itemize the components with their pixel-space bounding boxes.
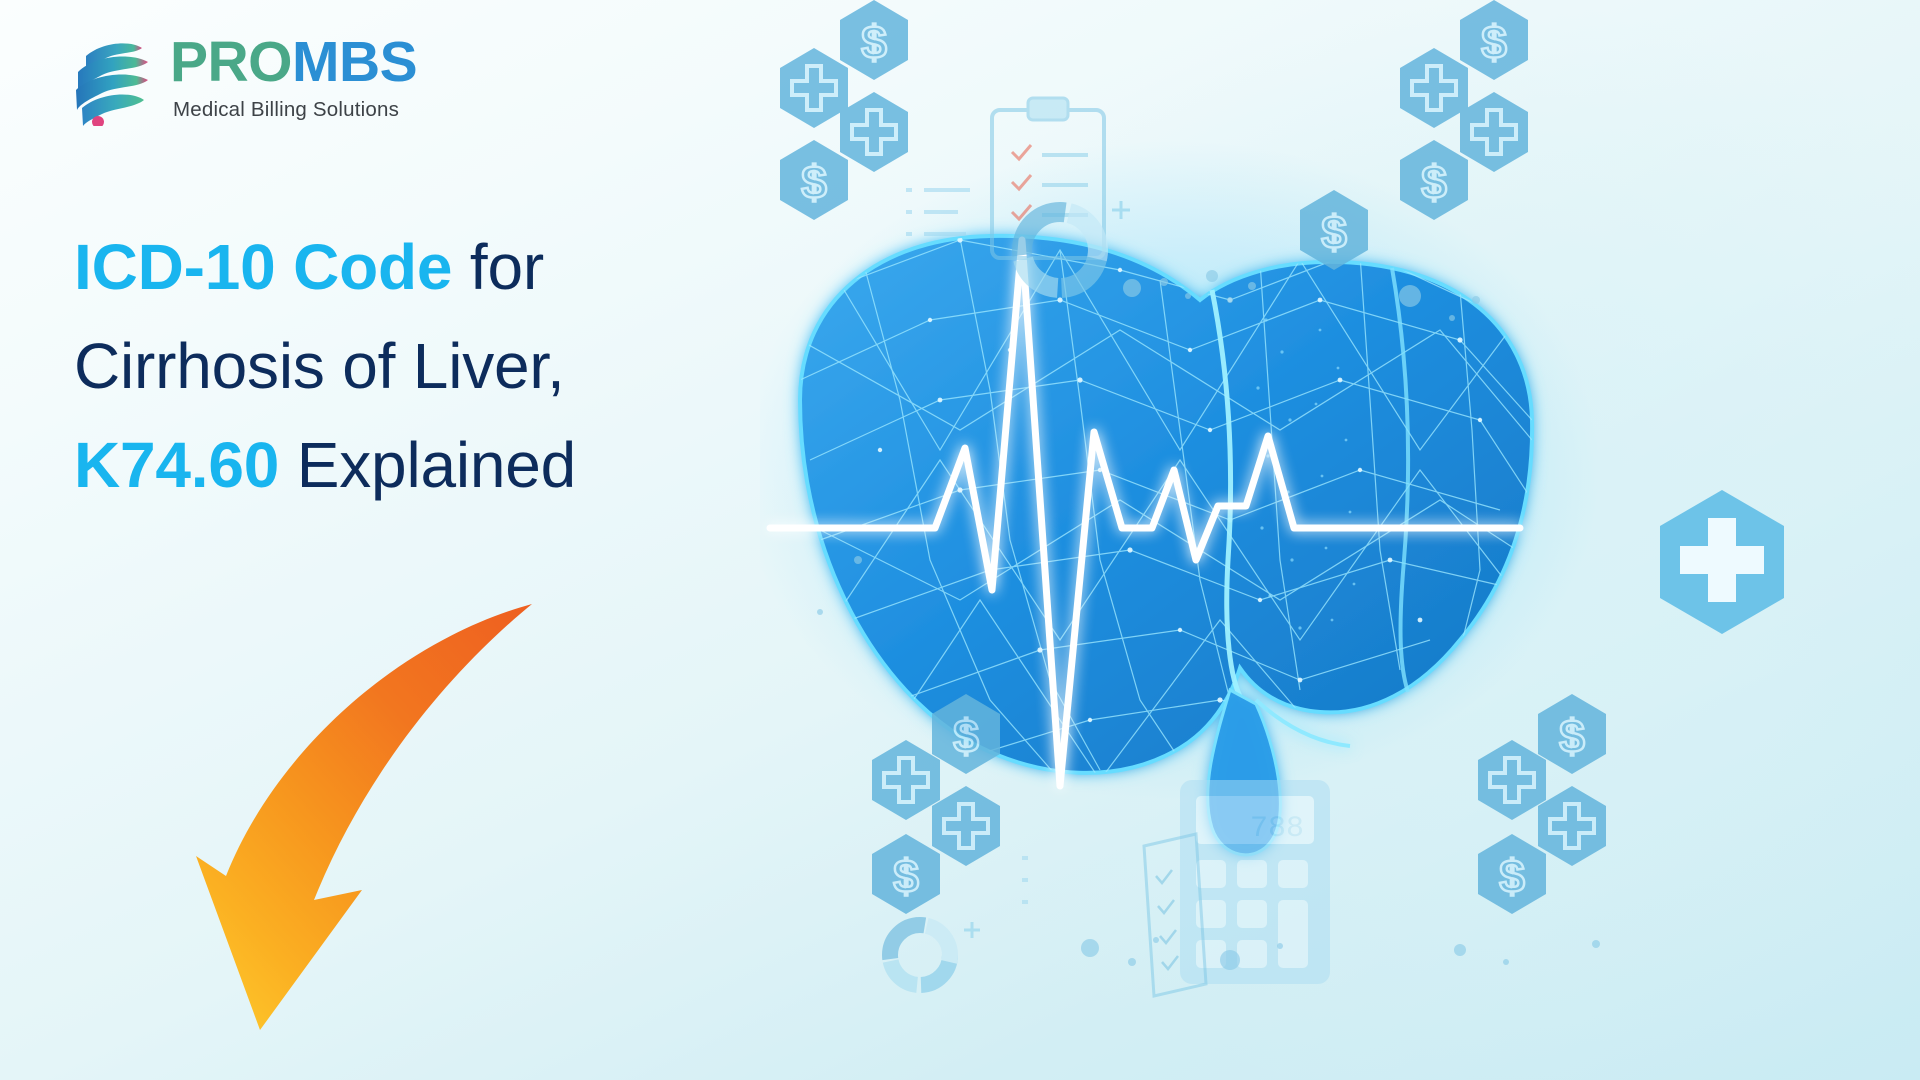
svg-text:$: $ bbox=[1499, 850, 1525, 902]
globe-swirl-icon bbox=[68, 30, 156, 126]
hexagon-medical-cross-icon-large bbox=[1660, 490, 1784, 634]
svg-text:$: $ bbox=[1481, 16, 1507, 68]
list-lines-icon-bottom bbox=[1022, 858, 1028, 902]
logo-word-pro: PRO bbox=[170, 30, 292, 94]
logo-wordmark: PROMBS bbox=[170, 34, 417, 91]
svg-text:$: $ bbox=[861, 16, 887, 68]
medical-illustration: $ $ $ bbox=[760, 0, 1920, 1080]
svg-text:$: $ bbox=[893, 850, 919, 902]
hero-banner: $ $ $ bbox=[0, 0, 1920, 1080]
headline-line-1-rest: for bbox=[452, 231, 544, 303]
logo-word-mbs: MBS bbox=[292, 30, 417, 94]
svg-text:$: $ bbox=[1559, 710, 1585, 762]
svg-text:$: $ bbox=[1421, 156, 1447, 208]
logo-tagline: Medical Billing Solutions bbox=[173, 98, 417, 122]
headline-line-2: Cirrhosis of Liver, bbox=[74, 317, 576, 416]
headline-line-3: K74.60 Explained bbox=[74, 416, 576, 515]
hex-badge-cluster-top-right: $ $ bbox=[1400, 0, 1528, 220]
headline-highlight-code: K74.60 bbox=[74, 429, 279, 501]
donut-chart-icon-bottom bbox=[890, 922, 980, 985]
headline-line-3-rest: Explained bbox=[279, 429, 576, 501]
calculator-display: 788 bbox=[1250, 812, 1304, 846]
svg-text:$: $ bbox=[953, 710, 979, 762]
curved-down-arrow-icon bbox=[100, 600, 620, 1060]
svg-text:$: $ bbox=[801, 156, 827, 208]
headline-line-1: ICD-10 Code for bbox=[74, 218, 576, 317]
svg-text:$: $ bbox=[1321, 206, 1347, 258]
page-title: ICD-10 Code for Cirrhosis of Liver, K74.… bbox=[74, 218, 576, 516]
headline-highlight-icd10: ICD-10 Code bbox=[74, 231, 452, 303]
hex-badge-cluster-bottom-left: $ $ bbox=[872, 694, 1000, 914]
brand-logo[interactable]: PROMBS Medical Billing Solutions bbox=[68, 30, 417, 126]
hex-badge-cluster-bottom-right: $ $ bbox=[1478, 694, 1606, 914]
hex-badge-cluster-top-left: $ $ bbox=[780, 0, 908, 220]
